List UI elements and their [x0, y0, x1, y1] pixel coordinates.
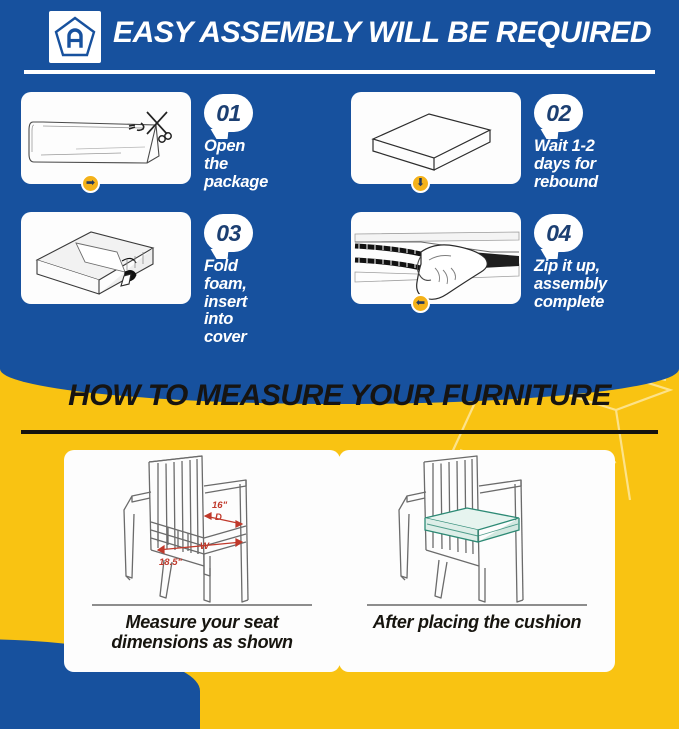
assembly-section: EASY ASSEMBLY WILL BE REQUIRED ➡ 01 — [0, 0, 679, 404]
house-pentagon-logo-icon — [49, 11, 101, 63]
header-divider — [24, 70, 655, 74]
svg-text:18.5": 18.5" — [159, 557, 182, 568]
step-01-text-line2: package — [204, 174, 268, 192]
arrow-right-icon: ➡ — [81, 174, 100, 193]
step-04-illustration-card — [351, 212, 521, 304]
step-03-number: 03 — [204, 214, 253, 252]
measure-panel-dimensions: 16" D W 18.5" Measure your seat dimensio… — [64, 450, 340, 672]
svg-text:16": 16" — [212, 500, 228, 511]
measure-panel-cushion: After placing the cushion — [339, 450, 615, 672]
step-02-number: 02 — [534, 94, 583, 132]
step-02-illustration-card — [351, 92, 521, 184]
step-04-number: 04 — [534, 214, 583, 252]
panel-left-divider — [92, 604, 312, 606]
panel-left-caption: Measure your seat dimensions as shown — [74, 612, 330, 652]
panel-left-caption-line1: Measure your seat — [74, 612, 330, 632]
step-04-text-line2: complete — [534, 294, 607, 312]
panel-right-caption: After placing the cushion — [349, 612, 605, 632]
arrow-down-icon: ⬇ — [411, 174, 430, 193]
step-03-text-line1: Fold foam, insert — [204, 258, 247, 311]
step-03-text-line2: into cover — [204, 311, 247, 347]
panel-right-caption-line1: After placing the cushion — [349, 612, 605, 632]
step-03-illustration-card — [21, 212, 191, 304]
section-header: EASY ASSEMBLY WILL BE REQUIRED — [0, 0, 679, 72]
svg-text:W: W — [200, 541, 210, 552]
step-01-illustration-card — [21, 92, 191, 184]
step-01-text: Open the package — [204, 138, 268, 191]
patio-chair-with-seat-cushion — [339, 450, 615, 605]
step-01-number: 01 — [204, 94, 253, 132]
step-04-text: Zip it up, assembly complete — [534, 258, 607, 311]
step-03-text: Fold foam, insert into cover — [204, 258, 247, 347]
measure-section-divider — [21, 430, 658, 434]
step-04-text-line1: Zip it up, assembly — [534, 258, 607, 294]
step-01-text-line1: Open the — [204, 138, 268, 174]
patio-chair-with-dimension-arrows: 16" D W 18.5" — [64, 450, 340, 605]
step-02-text-line1: Wait 1-2 days for — [534, 138, 598, 174]
step-02-text: Wait 1-2 days for rebound — [534, 138, 598, 191]
svg-text:D: D — [215, 512, 222, 523]
page-title: EASY ASSEMBLY WILL BE REQUIRED — [113, 16, 651, 50]
panel-right-divider — [367, 604, 587, 606]
arrow-left-icon: ⬅ — [411, 294, 430, 313]
panel-left-caption-line2: dimensions as shown — [74, 632, 330, 652]
measure-section-title: HOW TO MEASURE YOUR FURNITURE — [0, 379, 679, 413]
step-02-text-line2: rebound — [534, 174, 598, 192]
